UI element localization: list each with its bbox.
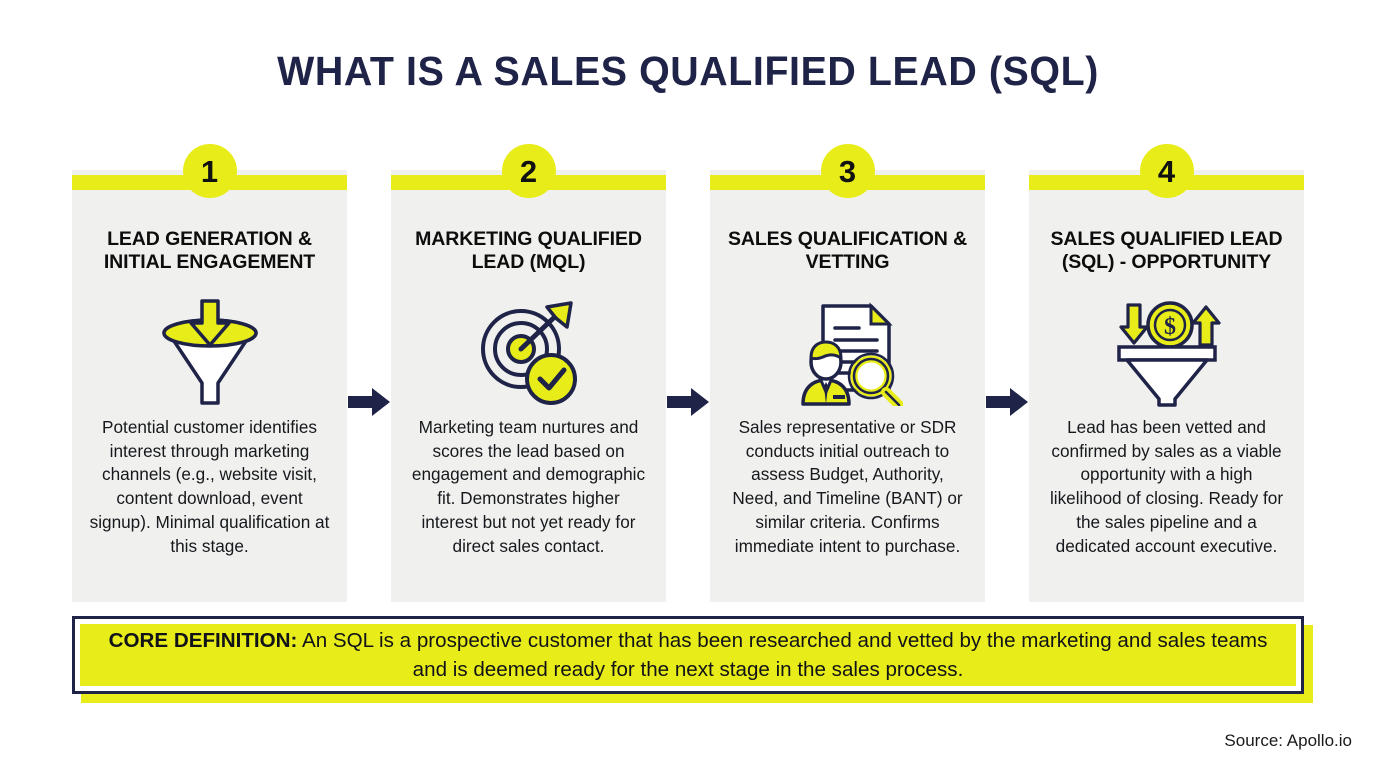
stage-heading: SALES QUALIFIED LEAD (SQL) - OPPORTUNITY [1041, 228, 1292, 274]
target-arrow-check-icon [391, 298, 666, 408]
stage-heading: SALES QUALIFICATION & VETTING [722, 228, 973, 274]
connector-2 [668, 170, 708, 602]
stage-card-1: 1 LEAD GENERATION & INITIAL ENGAGEMENT P… [72, 170, 347, 602]
stage-card-2: 2 MARKETING QUALIFIED LEAD (MQL) Marketi… [391, 170, 666, 602]
svg-text:$: $ [1164, 314, 1176, 340]
stage-heading: LEAD GENERATION & INITIAL ENGAGEMENT [84, 228, 335, 274]
core-definition-text: CORE DEFINITION: An SQL is a prospective… [94, 626, 1282, 684]
stage-body: Marketing team nurtures and scores the l… [407, 416, 650, 558]
stage-body: Potential customer identifies interest t… [88, 416, 331, 558]
core-definition-banner: CORE DEFINITION: An SQL is a prospective… [72, 616, 1304, 694]
banner-inner: CORE DEFINITION: An SQL is a prospective… [80, 624, 1296, 686]
arrow-right-icon [667, 387, 709, 422]
page-title: WHAT IS A SALES QUALIFIED LEAD (SQL) [28, 48, 1349, 95]
funnel-dollar-arrows-icon: $ [1029, 298, 1304, 408]
connector-3 [987, 170, 1027, 602]
stage-number-badge: 2 [502, 144, 556, 198]
stage-number-badge: 3 [821, 144, 875, 198]
stage-number-badge: 4 [1140, 144, 1194, 198]
core-definition-label: CORE DEFINITION: [109, 629, 298, 652]
connector-1 [349, 170, 389, 602]
banner-frame: CORE DEFINITION: An SQL is a prospective… [72, 616, 1304, 694]
document-person-magnifier-icon [710, 298, 985, 408]
stage-card-4: 4 SALES QUALIFIED LEAD (SQL) - OPPORTUNI… [1029, 170, 1304, 602]
stage-card-3: 3 SALES QUALIFICATION & VETTING [710, 170, 985, 602]
stage-heading: MARKETING QUALIFIED LEAD (MQL) [403, 228, 654, 274]
stage-row: 1 LEAD GENERATION & INITIAL ENGAGEMENT P… [72, 170, 1304, 602]
stage-number-badge: 1 [183, 144, 237, 198]
core-definition-body: An SQL is a prospective customer that ha… [297, 629, 1267, 681]
stage-body: Lead has been vetted and confirmed by sa… [1045, 416, 1288, 558]
infographic-canvas: WHAT IS A SALES QUALIFIED LEAD (SQL) 1 L… [0, 0, 1376, 768]
funnel-down-arrow-icon [72, 298, 347, 408]
source-attribution: Source: Apollo.io [1224, 731, 1352, 751]
arrow-right-icon [986, 387, 1028, 422]
arrow-right-icon [348, 387, 390, 422]
stage-body: Sales representative or SDR conducts ini… [726, 416, 969, 558]
